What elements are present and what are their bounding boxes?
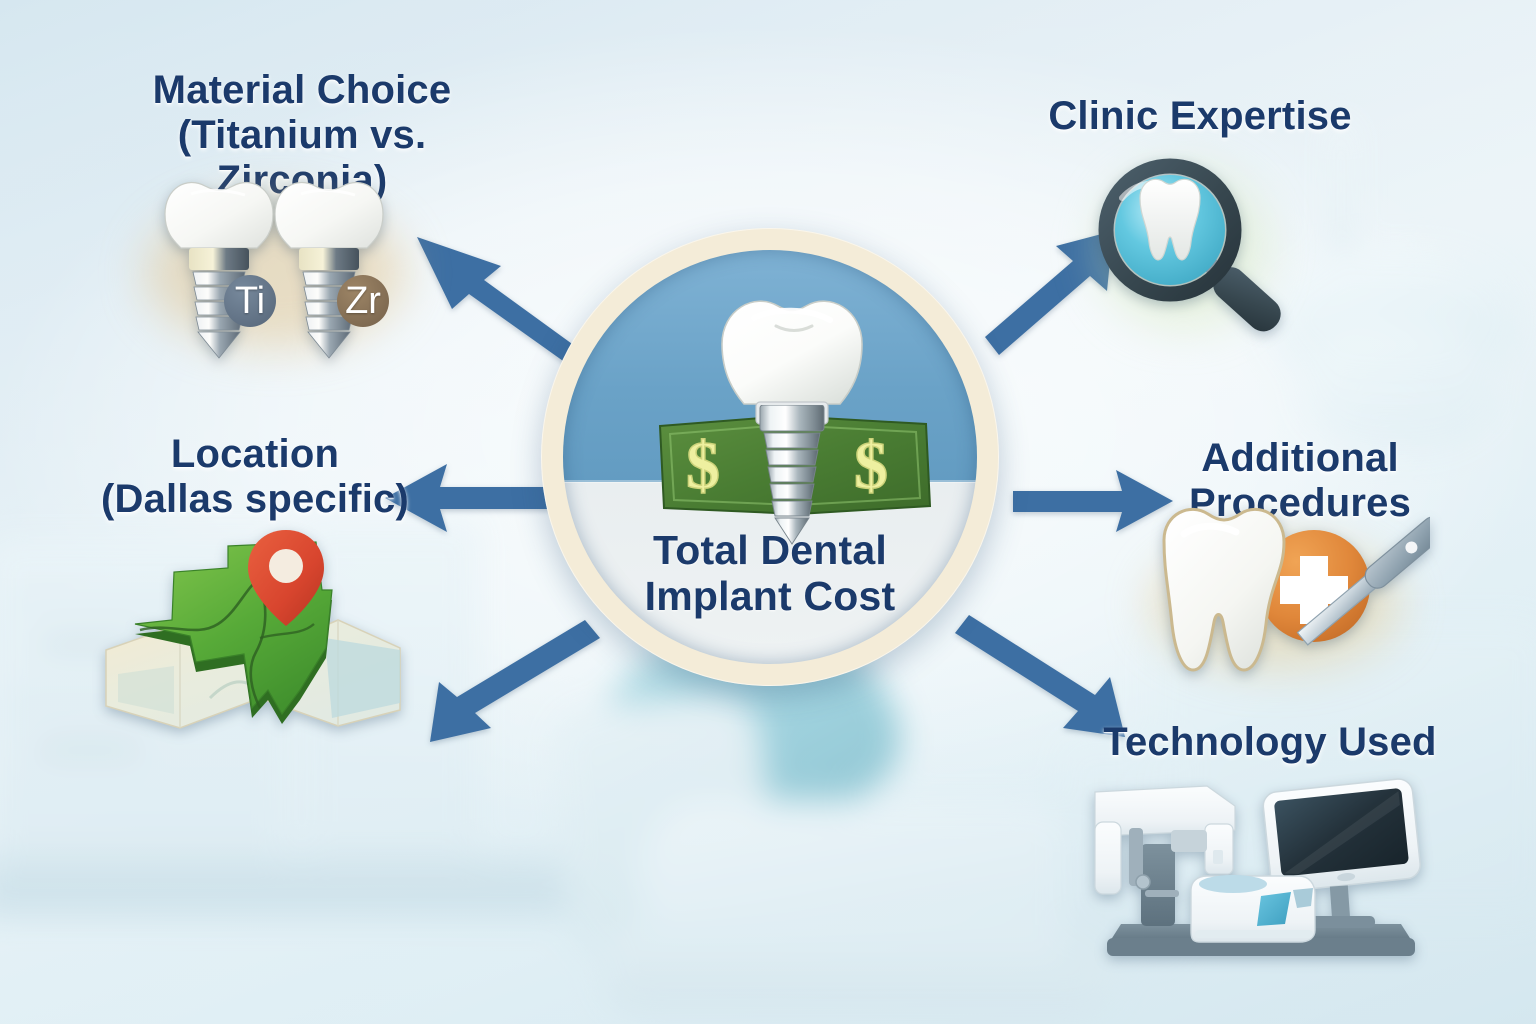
two-dental-implants-icon: Ti Zr [145,170,415,360]
zirconia-badge: Zr [337,275,389,327]
titanium-badge-label: Ti [235,280,265,323]
node-label-clinic-expertise: Clinic Expertise [1010,94,1390,139]
node-label-technology-used: Technology Used [1060,720,1480,765]
center-node-label: Total Dental Implant Cost [541,528,999,620]
center-node-total-cost: $ $ [541,228,999,686]
zirconia-badge-label: Zr [345,280,381,323]
magnifying-glass-tooth-icon [1092,158,1322,348]
infographic-canvas: Material Choice (Titanium vs. Zirconia) [0,0,1536,1024]
texas-map-with-pin-icon [100,528,410,738]
arrow-down-left [425,620,600,745]
titanium-badge: Ti [224,275,276,327]
dental-imaging-equipment-icon [1085,778,1435,978]
node-label-location: Location (Dallas specific) [70,432,440,522]
implant-screw-icon [759,405,825,545]
tooth-medical-cross-scalpel-icon [1140,500,1430,690]
